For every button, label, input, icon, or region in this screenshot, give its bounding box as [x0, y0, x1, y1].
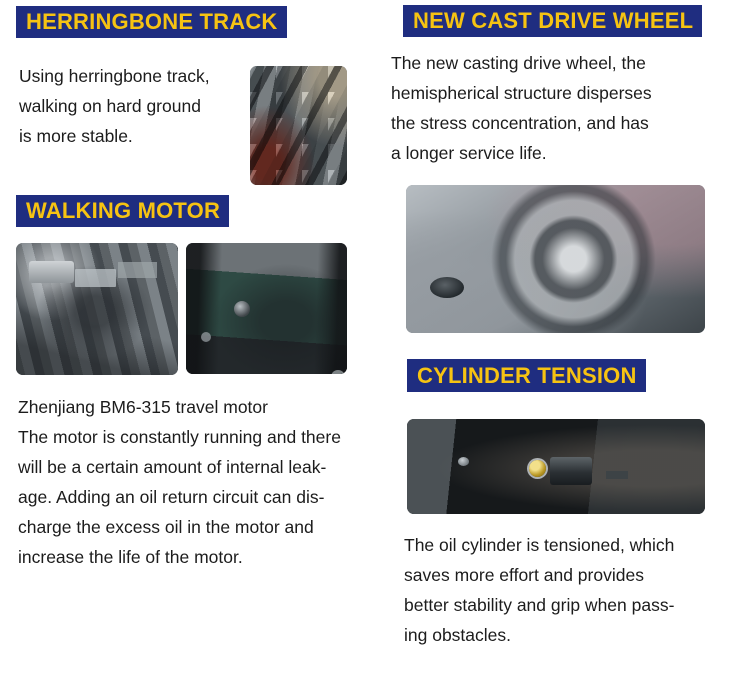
section-heading-walking-motor: WALKING MOTOR — [16, 195, 229, 227]
section-heading-cylinder-tension: CYLINDER TENSION — [407, 359, 646, 392]
cylinder-tension-image — [407, 419, 705, 514]
hydraulic-travel-motor-image-2 — [186, 243, 347, 374]
left-column: HERRINGBONE TRACK Using herringbone trac… — [0, 0, 380, 680]
hydraulic-travel-motor-image-1 — [16, 243, 178, 375]
herringbone-track-image — [250, 66, 347, 185]
photo-cylinder-tension — [407, 419, 705, 514]
heading-label-new-cast-drive-wheel: NEW CAST DRIVE WHEEL — [413, 10, 693, 32]
heading-label-walking-motor: WALKING MOTOR — [26, 200, 220, 222]
body-text-herringbone-track: Using herringbone track, walking on hard… — [19, 61, 251, 151]
photo-walking-motor-1 — [16, 243, 178, 375]
right-column: NEW CAST DRIVE WHEEL The new casting dri… — [390, 0, 750, 680]
body-text-new-cast-drive-wheel: The new casting drive wheel, the hemisph… — [391, 48, 731, 168]
body-text-cylinder-tension: The oil cylinder is tensioned, which sav… — [404, 530, 749, 650]
section-heading-new-cast-drive-wheel: NEW CAST DRIVE WHEEL — [403, 5, 702, 37]
feature-sheet-page: HERRINGBONE TRACK Using herringbone trac… — [0, 0, 750, 680]
photo-walking-motor-2 — [186, 243, 347, 374]
heading-label-cylinder-tension: CYLINDER TENSION — [417, 365, 637, 387]
cast-drive-wheel-image — [406, 185, 705, 333]
photo-herringbone-track — [250, 66, 347, 185]
photo-new-cast-drive-wheel — [406, 185, 705, 333]
cylinder-tension-bolt-highlight — [458, 457, 469, 466]
body-text-walking-motor: Zhenjiang BM6-315 travel motor The motor… — [18, 392, 374, 572]
section-heading-herringbone-track: HERRINGBONE TRACK — [16, 6, 287, 38]
heading-label-herringbone-track: HERRINGBONE TRACK — [26, 11, 278, 33]
